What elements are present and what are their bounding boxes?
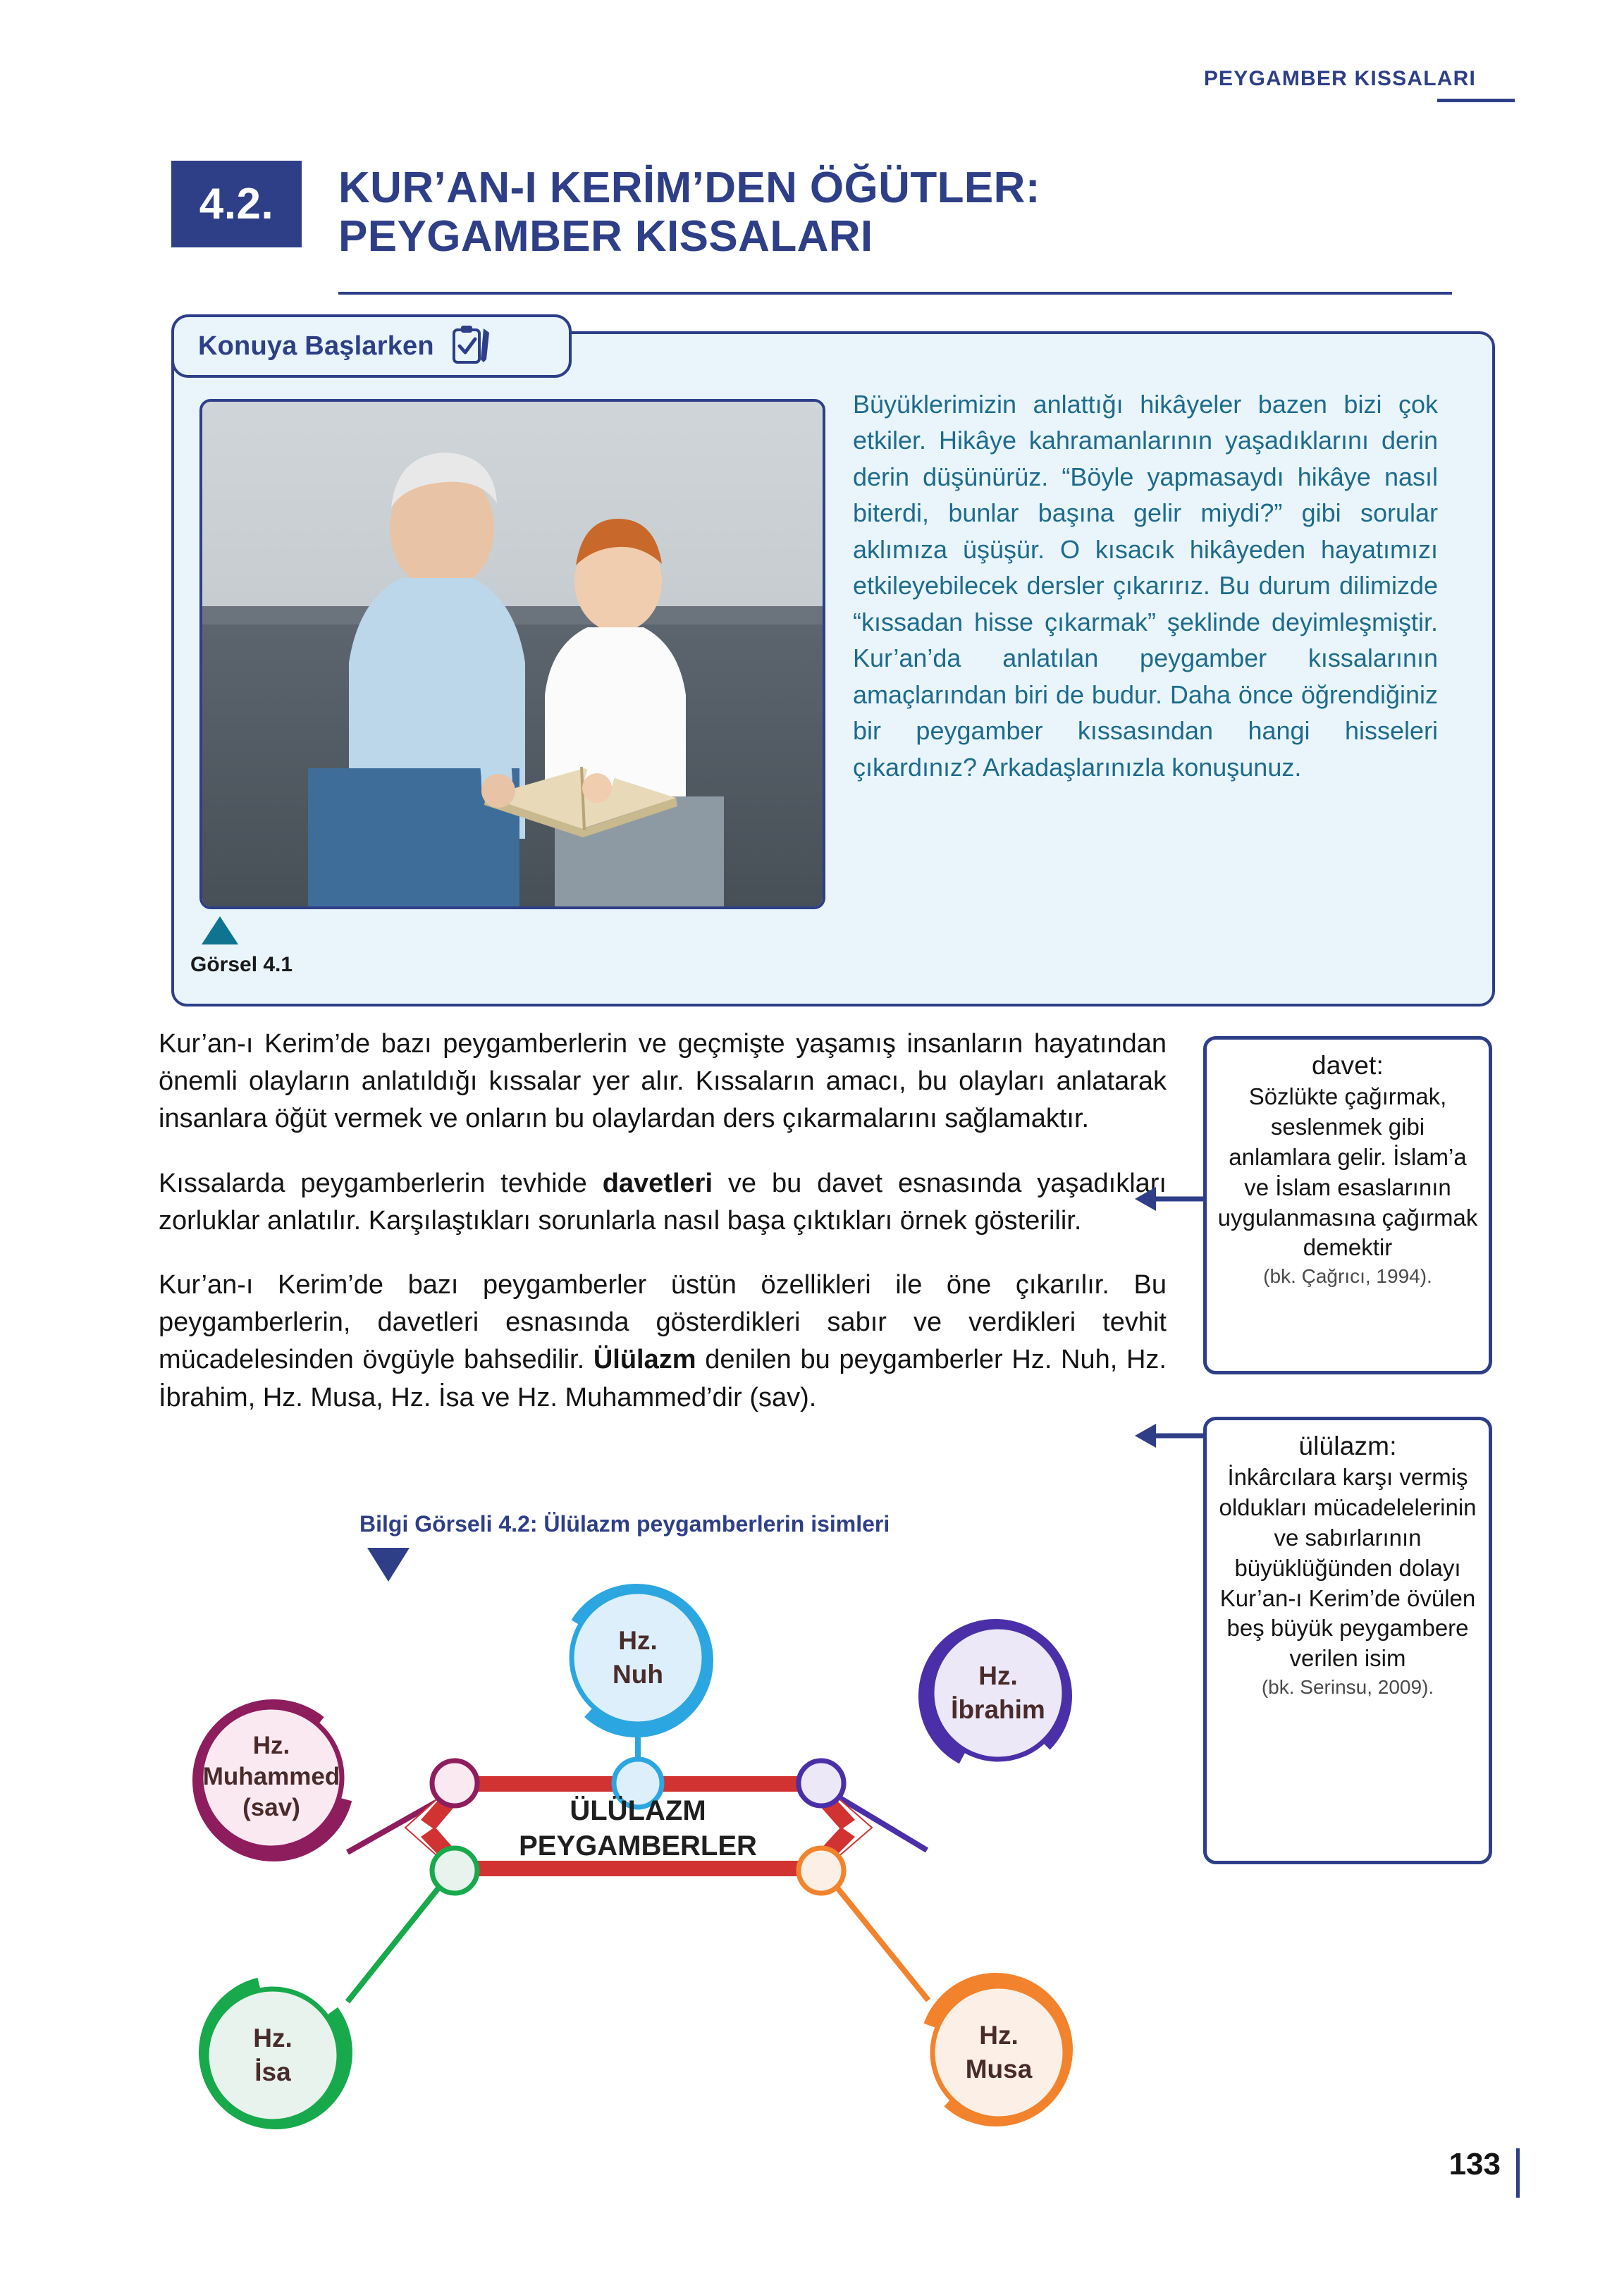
svg-text:Hz.: Hz. — [253, 1732, 290, 1759]
running-header-title: PEYGAMBER KISSALARI — [1204, 67, 1476, 91]
page-title: KUR’AN-I KERİM’DEN ÖĞÜTLER: PEYGAMBER KI… — [338, 164, 1360, 261]
body-text-column: Kur’an-ı Kerim’de bazı peygamberlerin ve… — [159, 1026, 1167, 1443]
glossary-definition-davet: Sözlükte çağırmak, seslenmek gibi anlaml… — [1207, 1082, 1489, 1263]
diagram-ululazm-prophets: ÜLÜLAZM PEYGAMBERLER Hz. Muhammed (sav) … — [159, 1572, 1181, 2136]
glossary-term-ululazm: ülülazm: — [1207, 1432, 1489, 1461]
svg-text:Hz.: Hz. — [618, 1626, 658, 1655]
chapter-number-badge: 4.2. — [171, 161, 302, 247]
svg-text:Muhammed: Muhammed — [203, 1763, 340, 1790]
svg-text:Hz.: Hz. — [978, 1661, 1018, 1690]
chapter-title-line-1: KUR’AN-I KERİM’DEN ÖĞÜTLER: — [338, 164, 1360, 212]
svg-text:İsa: İsa — [254, 2057, 291, 2086]
body-paragraph-3: Kur’an-ı Kerim’de bazı peygamberler üstü… — [159, 1267, 1167, 1417]
chapter-title-line-2: PEYGAMBER KISSALARI — [338, 212, 1360, 261]
chapter-title-rule — [338, 292, 1452, 295]
intro-panel-tab: Konuya Başlarken — [171, 314, 572, 378]
intro-tab-label: Konuya Başlarken — [198, 331, 434, 362]
page-number: 133 — [1449, 2147, 1501, 2182]
clipboard-check-pencil-icon — [450, 323, 493, 370]
body-paragraph-1: Kur’an-ı Kerim’de bazı peygamberlerin ve… — [159, 1026, 1167, 1138]
glossary-pointer-arrow-davet-icon — [1133, 1181, 1211, 1217]
glossary-pointer-arrow-ululazm-icon — [1133, 1418, 1211, 1453]
svg-text:ÜLÜLAZM: ÜLÜLAZM — [570, 1795, 706, 1826]
p2-keyword-davetleri: davetleri — [603, 1169, 713, 1198]
textbook-page: PEYGAMBER KISSALARI 4.2. KUR’AN-I KERİM’… — [0, 0, 1624, 2290]
glossary-citation-ululazm: (bk. Serinsu, 2009). — [1207, 1675, 1489, 1699]
p3-keyword-ululazm: Ülülazm — [593, 1345, 696, 1374]
svg-text:PEYGAMBERLER: PEYGAMBERLER — [519, 1830, 757, 1861]
page-number-rule — [1516, 2148, 1520, 2198]
figure-caption-marker-icon — [202, 916, 238, 944]
intro-panel-text: Büyüklerimizin anlattığı hikâyeler bazen… — [853, 386, 1438, 785]
figure-caption-4-1: Görsel 4.1 — [190, 953, 293, 977]
svg-text:Hz.: Hz. — [253, 2024, 293, 2052]
svg-text:(sav): (sav) — [242, 1794, 300, 1821]
body-paragraph-2: Kıssalarda peygamberlerin tevhide davetl… — [159, 1165, 1167, 1240]
glossary-box-ululazm: ülülazm: İnkârcılara karşı vermiş oldukl… — [1203, 1417, 1492, 1864]
p2-part-a: Kıssalarda peygamberlerin tevhide — [159, 1169, 603, 1198]
svg-text:Nuh: Nuh — [613, 1660, 663, 1689]
glossary-box-davet: davet: Sözlükte çağırmak, seslenmek gibi… — [1203, 1036, 1492, 1374]
running-header-rule — [1437, 99, 1515, 102]
svg-text:İbrahim: İbrahim — [951, 1695, 1045, 1724]
glossary-definition-ululazm: İnkârcılara karşı vermiş oldukları mücad… — [1207, 1463, 1489, 1674]
svg-text:Hz.: Hz. — [979, 2021, 1019, 2050]
svg-text:Musa: Musa — [966, 2055, 1033, 2083]
diagram-title-4-2: Bilgi Görseli 4.2: Ülülazm peygamberleri… — [359, 1511, 890, 1537]
glossary-citation-davet: (bk. Çağrıcı, 1994). — [1207, 1264, 1489, 1288]
glossary-term-davet: davet: — [1207, 1051, 1489, 1081]
figure-image-4-1 — [199, 399, 825, 909]
